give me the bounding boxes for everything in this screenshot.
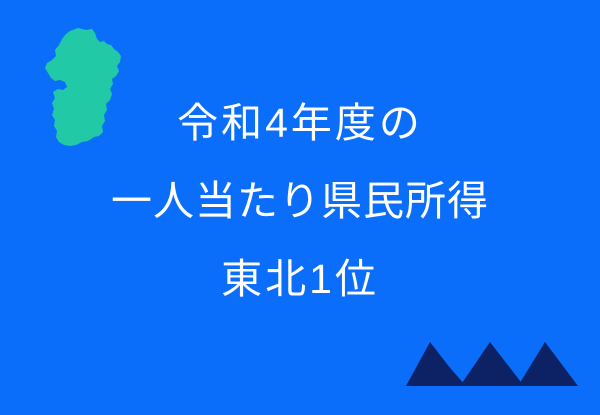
headline-line-1: 令和4年度の bbox=[0, 84, 600, 162]
headline-block: 令和4年度の 一人当たり県民所得 東北1位 bbox=[0, 84, 600, 318]
logo-peak-right bbox=[518, 342, 578, 386]
brand-logo bbox=[406, 328, 578, 386]
logo-peak-center bbox=[460, 342, 524, 386]
poster-canvas: 令和4年度の 一人当たり県民所得 東北1位 bbox=[0, 0, 600, 415]
headline-line-2: 一人当たり県民所得 bbox=[0, 162, 600, 240]
logo-peak-left-solid bbox=[406, 342, 464, 386]
headline-line-3: 東北1位 bbox=[0, 240, 600, 318]
